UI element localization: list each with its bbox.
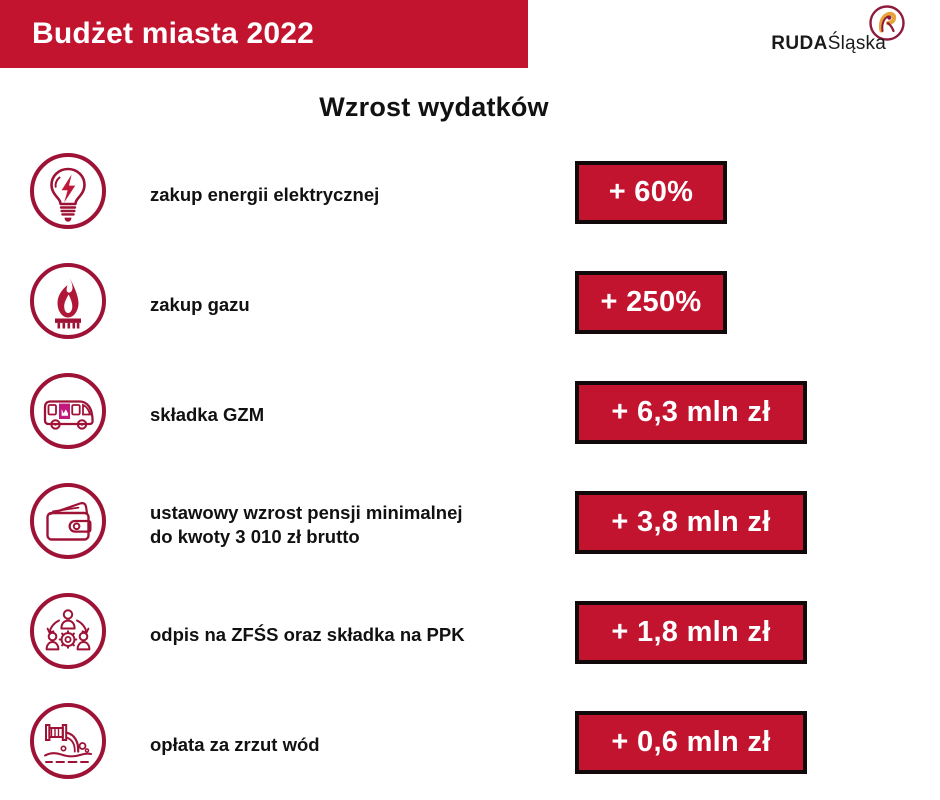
page-header: Budżet miasta 2022 RUDAŚląska <box>0 0 940 75</box>
logo-name-bold: RUDA <box>771 33 828 54</box>
value-badge: + 0,6 mln zł <box>575 711 807 774</box>
logo-wordmark: RUDAŚląska <box>771 34 886 53</box>
list-item: odpis na ZFŚS oraz składka na PPK + 1,8 … <box>0 580 940 690</box>
value-badge: + 250% <box>575 271 727 334</box>
gas-flame-burner-icon <box>28 261 108 341</box>
list-item-label: zakup gazu <box>150 250 550 360</box>
list-item: opłata za zrzut wód + 0,6 mln zł <box>0 690 940 800</box>
list-item-label-line1: zakup gazu <box>150 293 550 317</box>
list-item: składka GZM + 6,3 mln zł <box>0 360 940 470</box>
logo-name-regular: Śląska <box>828 33 886 54</box>
list-item-label: odpis na ZFŚS oraz składka na PPK <box>150 580 550 690</box>
list-item: zakup gazu + 250% <box>0 250 940 360</box>
value-badge: + 3,8 mln zł <box>575 491 807 554</box>
section-heading: Wzrost wydatków <box>0 92 868 123</box>
people-gear-icon <box>28 591 108 671</box>
list-item-label: składka GZM <box>150 360 550 470</box>
value-badge-text: + 1,8 mln zł <box>611 616 770 649</box>
list-item-label: zakup energii elektrycznej <box>150 140 550 250</box>
value-badge-text: + 60% <box>609 176 694 209</box>
list-item-label-line1: odpis na ZFŚS oraz składka na PPK <box>150 623 550 647</box>
wallet-icon <box>28 481 108 561</box>
list-item-label-line1: opłata za zrzut wód <box>150 733 550 757</box>
list-item: ustawowy wzrost pensji minimalnej do kwo… <box>0 470 940 580</box>
list-item-label-line2: do kwoty 3 010 zł brutto <box>150 525 550 549</box>
list-item-label: opłata za zrzut wód <box>150 690 550 800</box>
list-item-label-line1: ustawowy wzrost pensji minimalnej <box>150 501 550 525</box>
water-discharge-pipe-icon <box>28 701 108 781</box>
value-badge-text: + 250% <box>601 286 702 319</box>
value-badge: + 1,8 mln zł <box>575 601 807 664</box>
bus-icon <box>28 371 108 451</box>
list-item-label: ustawowy wzrost pensji minimalnej do kwo… <box>150 470 550 580</box>
value-badge: + 6,3 mln zł <box>575 381 807 444</box>
title-banner: Budżet miasta 2022 <box>0 0 528 68</box>
value-badge: + 60% <box>575 161 727 224</box>
list-item: zakup energii elektrycznej + 60% <box>0 140 940 250</box>
city-logo: RUDAŚląska <box>744 4 924 68</box>
value-badge-text: + 3,8 mln zł <box>611 506 770 539</box>
list-item-label-line1: składka GZM <box>150 403 550 427</box>
page-title: Budżet miasta 2022 <box>32 17 314 51</box>
value-badge-text: + 6,3 mln zł <box>611 396 770 429</box>
lightbulb-bolt-icon <box>28 151 108 231</box>
expense-increase-list: zakup energii elektrycznej + 60% zakup g… <box>0 140 940 800</box>
value-badge-text: + 0,6 mln zł <box>611 726 770 759</box>
list-item-label-line1: zakup energii elektrycznej <box>150 183 550 207</box>
